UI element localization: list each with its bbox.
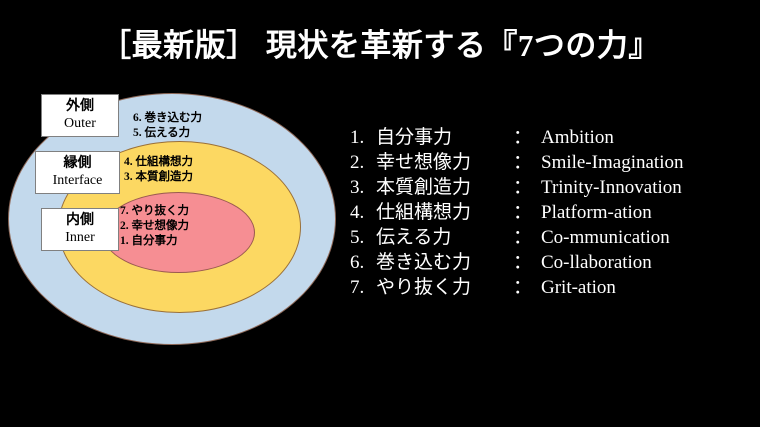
list-item-english: Smile-Imagination xyxy=(541,152,755,174)
list-item-english: Ambition xyxy=(541,127,755,149)
label-box-interface-ja: 縁側 xyxy=(36,155,119,172)
list-item-number: 6. xyxy=(350,252,376,274)
list-item-separator: ： xyxy=(513,122,541,149)
list-item-separator: ： xyxy=(513,172,541,199)
list-item-separator: ： xyxy=(513,247,541,274)
label-box-inner-en: Inner xyxy=(42,229,118,246)
label-box-outer-ja: 外側 xyxy=(42,98,118,115)
list-item: 7. やり抜く力 ： Grit-ation xyxy=(350,272,755,297)
list-item-japanese: やり抜く力 xyxy=(376,272,513,299)
list-item-number: 2. xyxy=(350,152,376,174)
list-item-japanese: 自分事力 xyxy=(376,122,513,149)
ring-item: 6. 巻き込む力 xyxy=(133,111,202,126)
list-item-english: Platform-ation xyxy=(541,202,755,224)
list-item-english: Grit-ation xyxy=(541,277,755,299)
list-item-english: Co-mmunication xyxy=(541,227,755,249)
list-item-number: 4. xyxy=(350,202,376,224)
list-item: 2. 幸せ想像力 ： Smile-Imagination xyxy=(350,147,755,172)
list-item-japanese: 本質創造力 xyxy=(376,172,513,199)
label-box-interface-en: Interface xyxy=(36,172,119,189)
label-box-inner-ja: 内側 xyxy=(42,212,118,229)
nested-ellipse-diagram: 6. 巻き込む力 5. 伝える力 4. 仕組構想力 3. 本質創造力 7. やり… xyxy=(0,0,345,360)
label-box-inner: 内側 Inner xyxy=(41,208,119,251)
list-item-separator: ： xyxy=(513,272,541,299)
label-box-outer: 外側 Outer xyxy=(41,94,119,137)
list-item-english: Co-llaboration xyxy=(541,252,755,274)
list-item-number: 3. xyxy=(350,177,376,199)
label-box-interface: 縁側 Interface xyxy=(35,151,120,194)
list-item-separator: ： xyxy=(513,147,541,174)
list-item-japanese: 巻き込む力 xyxy=(376,247,513,274)
seven-powers-list: 1. 自分事力 ： Ambition 2. 幸せ想像力 ： Smile-Imag… xyxy=(350,122,755,297)
ring-item: 7. やり抜く力 xyxy=(120,204,189,219)
ring-item: 4. 仕組構想力 xyxy=(124,155,193,170)
list-item-number: 7. xyxy=(350,277,376,299)
ring-items-interface: 4. 仕組構想力 3. 本質創造力 xyxy=(124,155,193,185)
list-item-japanese: 幸せ想像力 xyxy=(376,147,513,174)
list-item-english: Trinity-Innovation xyxy=(541,177,755,199)
list-item-japanese: 伝える力 xyxy=(376,222,513,249)
list-item-number: 5. xyxy=(350,227,376,249)
label-box-outer-en: Outer xyxy=(42,115,118,132)
list-item: 4. 仕組構想力 ： Platform-ation xyxy=(350,197,755,222)
list-item-separator: ： xyxy=(513,222,541,249)
list-item-japanese: 仕組構想力 xyxy=(376,197,513,224)
list-item-number: 1. xyxy=(350,127,376,149)
ring-item: 2. 幸せ想像力 xyxy=(120,219,189,234)
list-item: 1. 自分事力 ： Ambition xyxy=(350,122,755,147)
ring-item: 5. 伝える力 xyxy=(133,126,202,141)
list-item-separator: ： xyxy=(513,197,541,224)
list-item: 5. 伝える力 ： Co-mmunication xyxy=(350,222,755,247)
slide-canvas: ［最新版］ 現状を革新する『7つの力』 6. 巻き込む力 5. 伝える力 4. … xyxy=(0,0,760,427)
ring-item: 1. 自分事力 xyxy=(120,234,189,249)
list-item: 6. 巻き込む力 ： Co-llaboration xyxy=(350,247,755,272)
list-item: 3. 本質創造力 ： Trinity-Innovation xyxy=(350,172,755,197)
ring-items-outer: 6. 巻き込む力 5. 伝える力 xyxy=(133,111,202,141)
ring-item: 3. 本質創造力 xyxy=(124,170,193,185)
ring-items-inner: 7. やり抜く力 2. 幸せ想像力 1. 自分事力 xyxy=(120,204,189,249)
